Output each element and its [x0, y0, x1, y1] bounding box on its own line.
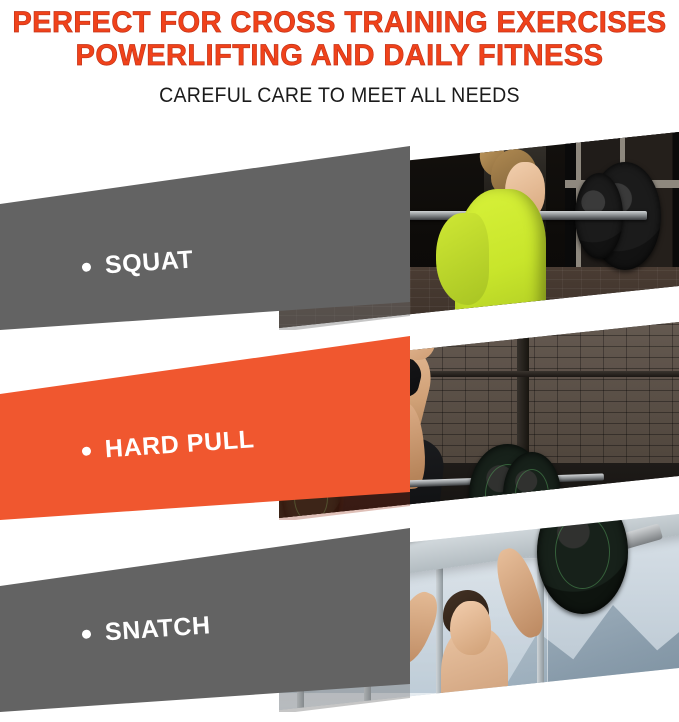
bullet-icon	[82, 629, 92, 639]
poster-header: PERFECT FOR CROSS TRAINING EXERCISES POW…	[0, 0, 679, 125]
row-label-text-squat: SQUAT	[104, 245, 194, 280]
headline-line-1: PERFECT FOR CROSS TRAINING EXERCISES	[10, 6, 669, 39]
band-squat	[0, 130, 410, 330]
feature-row-squat	[0, 130, 679, 330]
bullet-icon	[82, 262, 92, 272]
feature-row-snatch	[0, 512, 679, 712]
headline-line-2: POWERLIFTING AND DAILY FITNESS	[10, 39, 669, 72]
bullet-icon	[82, 446, 92, 456]
feature-row-hard-pull	[0, 320, 679, 520]
band-hard-pull	[0, 320, 410, 520]
subheadline: CAREFUL CARE TO MEET ALL NEEDS	[24, 84, 655, 108]
product-feature-poster: PERFECT FOR CROSS TRAINING EXERCISES POW…	[0, 0, 679, 722]
